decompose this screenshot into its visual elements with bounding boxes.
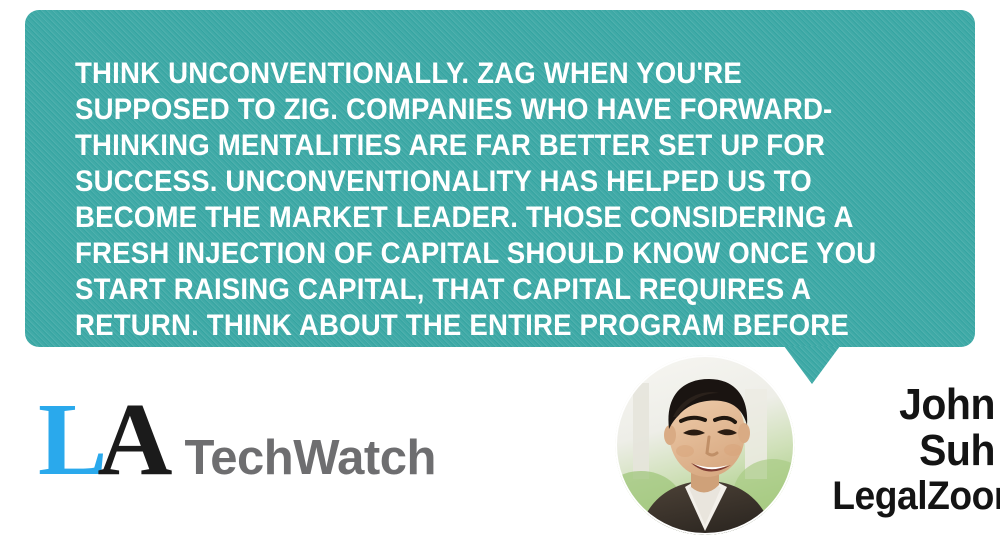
speaker-avatar [615, 355, 795, 535]
avatar-photo-illustration [615, 355, 795, 535]
speaker-company: LegalZoom [832, 474, 995, 518]
logo-letter-l: L [38, 388, 101, 492]
la-techwatch-logo[interactable]: L A TechWatch [38, 388, 436, 492]
logo-letter-a: A [97, 388, 172, 492]
speaker-name: John Suh [832, 382, 995, 474]
speaker-attribution: John Suh LegalZoom [820, 382, 995, 518]
logo-wordmark: TechWatch [184, 434, 435, 483]
quote-text: THINK UNCONVENTIONALLY. ZAG WHEN YOU'RE … [75, 56, 885, 380]
attribution-footer: L A TechWatch [0, 350, 1000, 537]
quote-speech-bubble: THINK UNCONVENTIONALLY. ZAG WHEN YOU'RE … [25, 10, 975, 347]
